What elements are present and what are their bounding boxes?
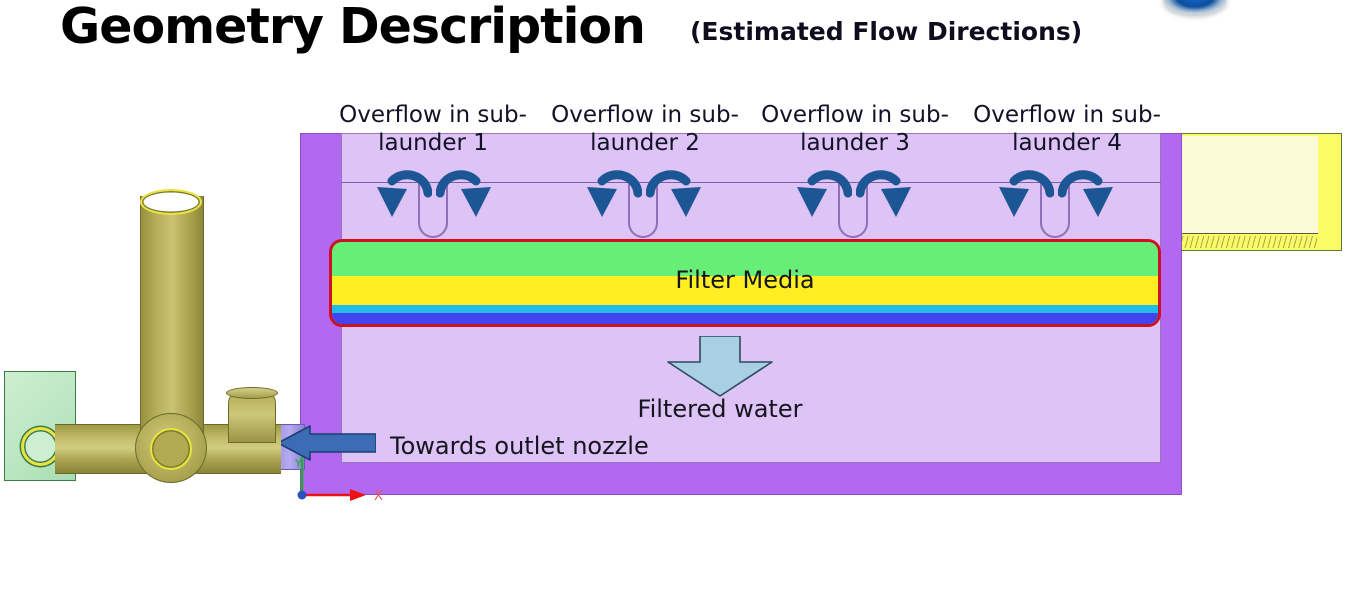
pipe-tee-bore-icon bbox=[150, 428, 192, 470]
overflow-label-4-line2: launder 4 bbox=[952, 129, 1182, 157]
overflow-label-3: Overflow in sub- launder 3 bbox=[740, 101, 970, 157]
overflow-label-2: Overflow in sub- launder 2 bbox=[530, 101, 760, 157]
overflow-label-2-line2: launder 2 bbox=[530, 129, 760, 157]
axis-label-x: X bbox=[374, 489, 383, 504]
overflow-label-1-line1: Overflow in sub- bbox=[318, 101, 548, 129]
flow-arrow-launder-4-right bbox=[1058, 165, 1120, 223]
filter-media-layer-cyan bbox=[332, 305, 1158, 313]
axis-label-y: Y bbox=[294, 457, 302, 470]
filtered-water-label: Filtered water bbox=[590, 395, 850, 423]
flow-arrow-launder-2-left bbox=[580, 165, 642, 223]
filter-media-label: Filter Media bbox=[329, 266, 1161, 294]
pale-yellow-part-hatching bbox=[1167, 236, 1317, 248]
filtered-water-arrow-icon bbox=[660, 336, 780, 398]
title-bar: Geometry Description (Estimated Flow Dir… bbox=[0, 0, 1362, 70]
pipe-elbow-opening bbox=[226, 387, 278, 399]
flow-arrow-launder-4-left bbox=[992, 165, 1054, 223]
page-subtitle: (Estimated Flow Directions) bbox=[690, 17, 1082, 46]
overflow-label-3-line1: Overflow in sub- bbox=[740, 101, 970, 129]
filter-media-layer-blue bbox=[332, 313, 1158, 324]
vertical-riser-opening bbox=[140, 189, 202, 215]
axis-triad: Y X bbox=[292, 455, 402, 511]
overflow-label-1: Overflow in sub- launder 1 bbox=[318, 101, 548, 157]
overflow-label-2-line1: Overflow in sub- bbox=[530, 101, 760, 129]
flow-arrow-launder-1-left bbox=[370, 165, 432, 223]
flow-arrow-launder-1-right bbox=[436, 165, 498, 223]
pale-yellow-part bbox=[1156, 133, 1342, 251]
page-title: Geometry Description bbox=[60, 0, 645, 55]
overflow-label-1-line2: launder 1 bbox=[318, 129, 548, 157]
overflow-label-4: Overflow in sub- launder 4 bbox=[952, 101, 1182, 157]
overflow-label-4-line1: Overflow in sub- bbox=[952, 101, 1182, 129]
flow-arrow-launder-3-left bbox=[790, 165, 852, 223]
pale-yellow-part-face bbox=[1163, 136, 1318, 234]
overflow-label-3-line2: launder 3 bbox=[740, 129, 970, 157]
flow-arrow-launder-2-right bbox=[646, 165, 708, 223]
flow-arrow-launder-3-right bbox=[856, 165, 918, 223]
outlet-nozzle-label: Towards outlet nozzle bbox=[390, 432, 649, 460]
